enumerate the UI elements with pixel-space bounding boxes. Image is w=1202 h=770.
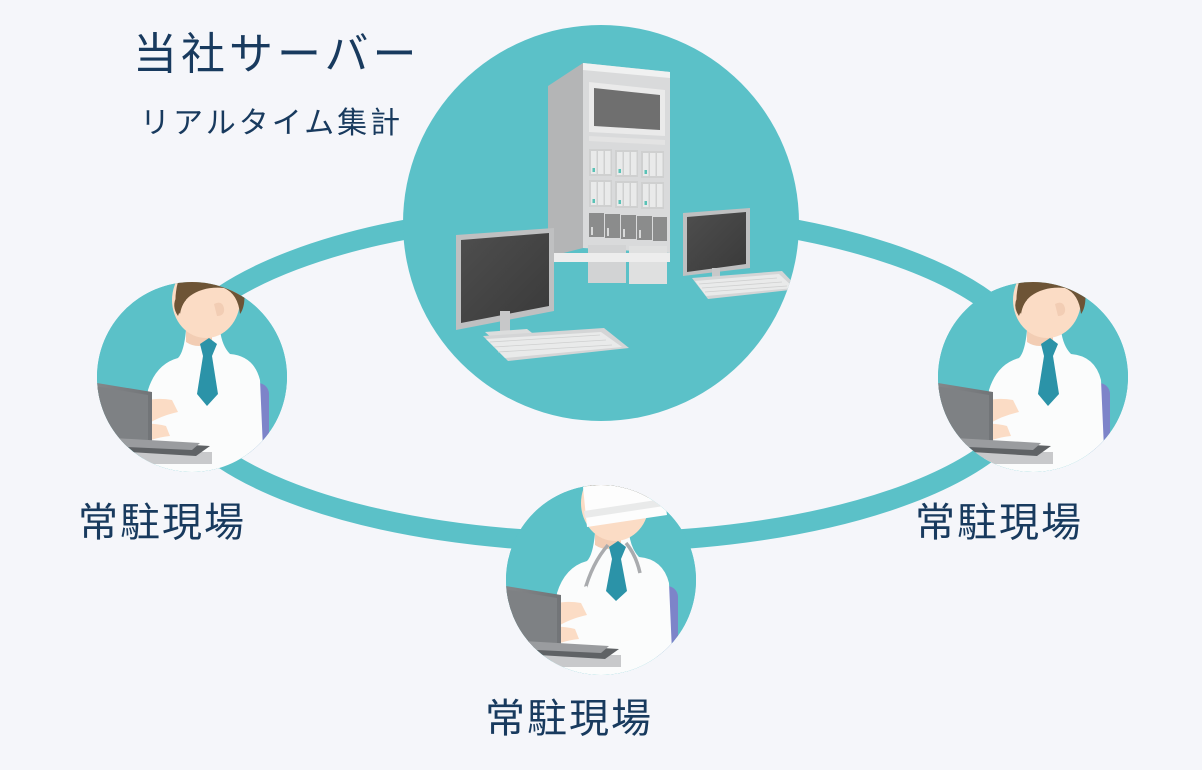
page-title: 当社サーバー: [133, 18, 421, 82]
person-laptop-icon-left: [52, 258, 287, 474]
site-left-label: 常駐現場: [78, 490, 246, 548]
page-subtitle: リアルタイム集計: [140, 98, 403, 142]
site-bottom-label: 常駐現場: [485, 686, 653, 744]
server-rack-icon: [548, 63, 670, 284]
server-node[interactable]: [403, 25, 799, 421]
site-left-node[interactable]: [52, 258, 287, 474]
site-bottom-node[interactable]: [461, 464, 696, 677]
person-laptop-icon-right: [893, 258, 1128, 474]
site-right-node[interactable]: [893, 258, 1128, 474]
person-cap-laptop-icon: [461, 464, 696, 677]
diagram-canvas: 当社サーバー リアルタイム集計 常駐現場 常駐現場 常駐現場: [0, 0, 1202, 770]
site-right-label: 常駐現場: [915, 490, 1083, 548]
